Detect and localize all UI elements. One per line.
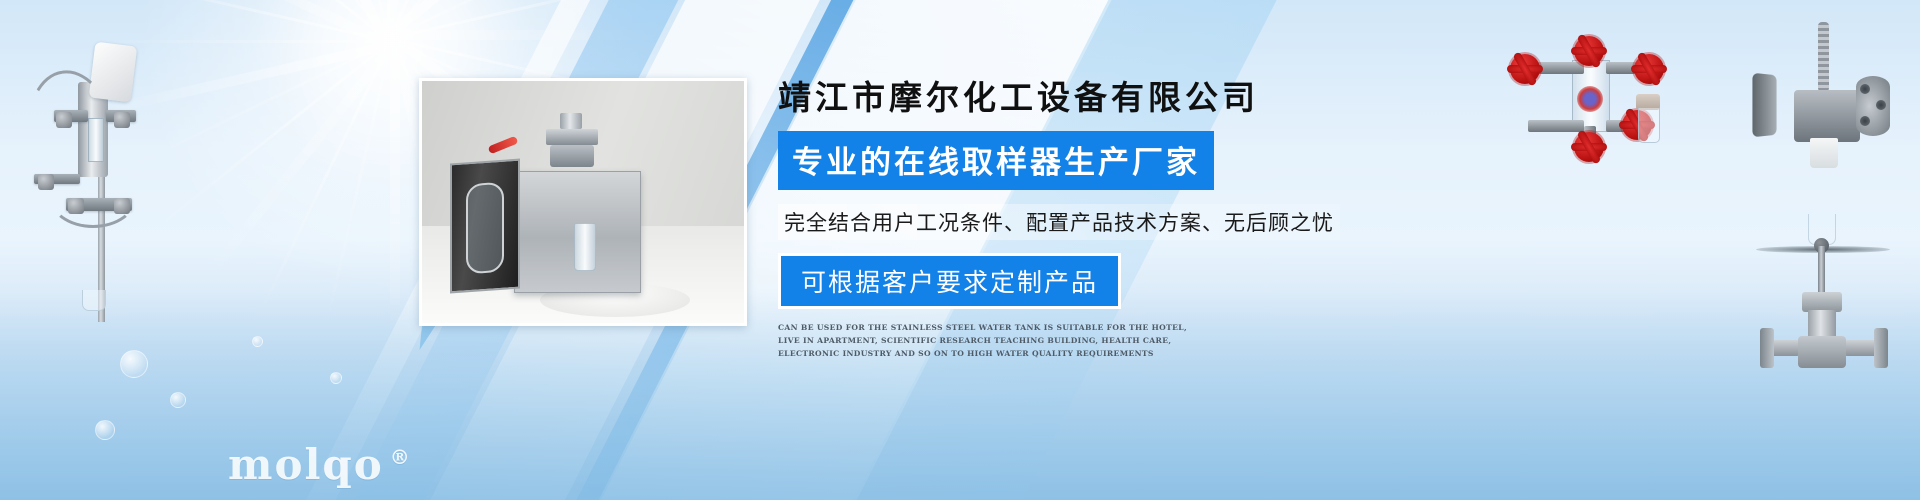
english-subtext: CAN BE USED FOR THE STAINLESS STEEL WATE…	[778, 321, 1188, 361]
bubble-decoration	[95, 420, 115, 440]
valve-stem	[560, 113, 582, 129]
hex-fitting	[114, 112, 130, 128]
curved-tube	[48, 162, 138, 228]
valve-arm-horizontal	[1528, 120, 1584, 132]
left-flange	[1752, 73, 1776, 138]
lever-handle	[1818, 22, 1829, 92]
collection-cup	[1810, 138, 1838, 168]
bolt-hole	[1860, 84, 1870, 94]
certification-seal-icon	[1577, 86, 1603, 112]
left-product-image	[10, 22, 190, 322]
sample-vial	[1638, 108, 1660, 143]
bubble-decoration	[252, 336, 263, 347]
bubble-decoration	[330, 372, 342, 384]
bolt-hole	[1876, 100, 1886, 110]
red-handwheel	[1510, 54, 1540, 84]
bubble-decoration	[170, 392, 186, 408]
valve-body	[1794, 90, 1860, 142]
promo-banner: 靖江市摩尔化工设备有限公司 专业的在线取样器生产厂家 完全结合用户工况条件、配置…	[0, 0, 1920, 500]
right-product-lever-valve	[1752, 22, 1902, 182]
red-handwheel	[1634, 54, 1664, 84]
door-window	[466, 182, 504, 275]
banner-text-block: 靖江市摩尔化工设备有限公司 专业的在线取样器生产厂家 完全结合用户工况条件、配置…	[778, 78, 1398, 360]
primary-slogan-badge: 专业的在线取样器生产厂家	[778, 131, 1214, 190]
valve-body	[1798, 336, 1846, 368]
sample-bottle	[574, 223, 596, 271]
bolt-hole	[1860, 116, 1870, 126]
valve-end-right	[1874, 328, 1888, 368]
description-text: 完全结合用户工况条件、配置产品技术方案、无后顾之忧	[778, 204, 1340, 240]
watermark-text: molqo	[228, 440, 384, 489]
valve-body	[550, 145, 594, 167]
sample-jar	[82, 290, 106, 311]
right-product-gate-valve	[1760, 236, 1890, 376]
top-valve-assembly	[542, 113, 604, 173]
cabinet-open-door	[450, 159, 520, 294]
brand-watermark: molqo®	[228, 440, 412, 489]
bubble-decoration	[120, 350, 148, 378]
right-flange	[1856, 76, 1890, 136]
red-handwheel	[1574, 132, 1604, 162]
valve-neck	[1808, 310, 1836, 338]
red-handwheel	[1574, 36, 1604, 66]
watermark-registered-mark: ®	[390, 445, 412, 469]
custom-product-badge: 可根据客户要求定制产品	[778, 253, 1121, 309]
valve-flange	[546, 129, 598, 145]
right-product-cross-sampler	[1510, 40, 1670, 150]
photo-content	[422, 81, 744, 323]
center-product-photo	[419, 78, 747, 326]
valve-end-left	[1760, 328, 1774, 368]
company-name: 靖江市摩尔化工设备有限公司	[778, 78, 1398, 118]
valve-bonnet	[1802, 292, 1842, 312]
